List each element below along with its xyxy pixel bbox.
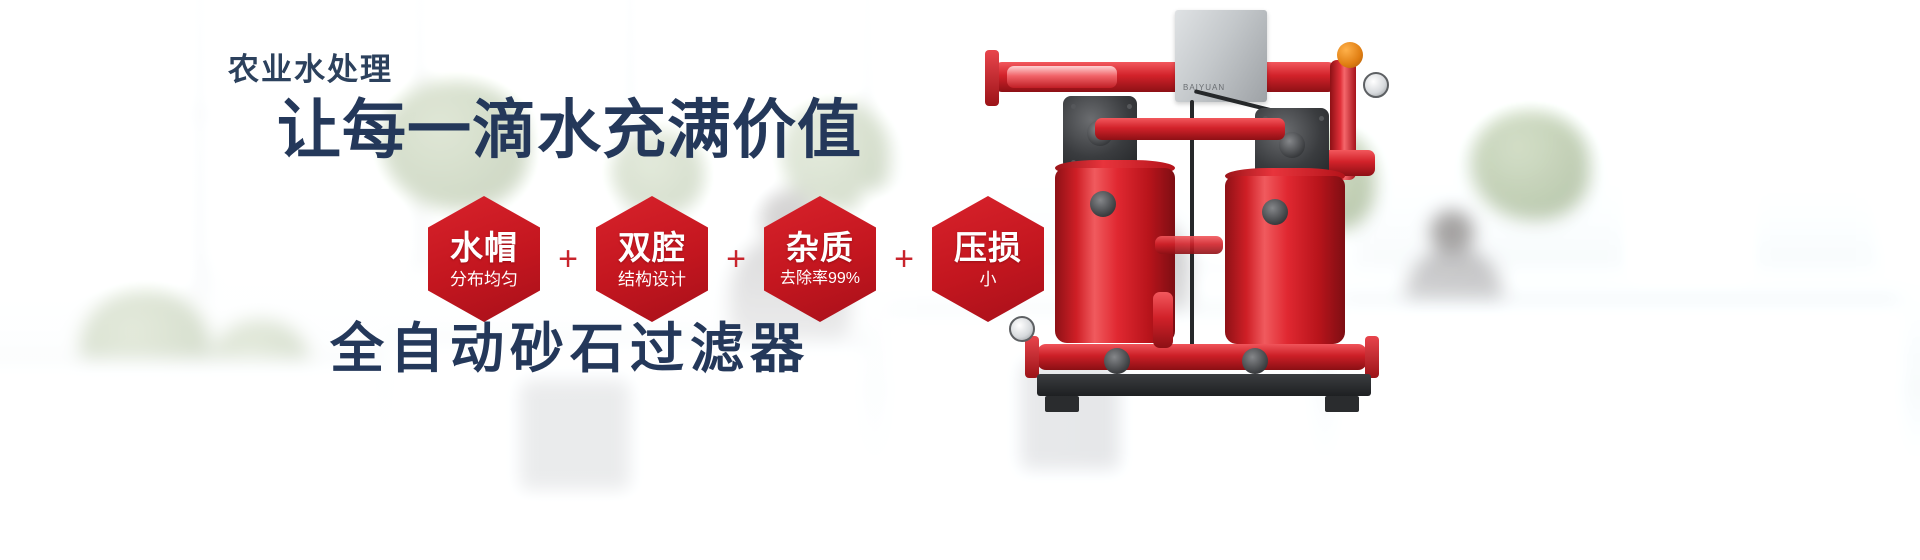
feature-badge-1: 水帽 分布均匀: [428, 196, 540, 322]
promo-banner: BAIYUAN: [0, 0, 1920, 560]
badge-4-subtitle: 小: [980, 271, 997, 288]
product-image-sand-filter: BAIYUAN: [985, 0, 1445, 470]
kicker-text: 农业水处理: [228, 44, 393, 89]
headline-text: 让每一滴水充满价值: [277, 98, 862, 162]
plus-separator-2: +: [708, 242, 764, 276]
orange-knob: [1337, 42, 1363, 68]
product-name-text: 全自动砂石过滤器: [330, 322, 810, 376]
plus-separator-3: +: [876, 242, 932, 276]
badge-1-title: 水帽: [450, 231, 518, 264]
plus-separator-1: +: [540, 242, 596, 276]
badge-3-subtitle: 去除率99%: [780, 271, 860, 287]
feature-badge-3: 杂质 去除率99%: [764, 196, 876, 322]
pressure-gauge-top: [1363, 72, 1389, 98]
badge-3-title: 杂质: [786, 231, 854, 264]
controller-box: BAIYUAN: [1175, 10, 1267, 102]
feature-badge-2: 双腔 结构设计: [596, 196, 708, 322]
feature-badge-4: 压损 小: [932, 196, 1044, 322]
filter-tank-right: [1225, 176, 1345, 344]
badge-2-subtitle: 结构设计: [618, 271, 686, 288]
feature-badge-row: 水帽 分布均匀 + 双腔 结构设计 + 杂质 去除率99% + 压损 小: [428, 196, 1044, 322]
badge-4-title: 压损: [954, 231, 1022, 264]
badge-2-title: 双腔: [618, 231, 686, 264]
badge-1-subtitle: 分布均匀: [450, 271, 518, 288]
copy-block: 农业水处理 让每一滴水充满价值 水帽 分布均匀 + 双腔 结构设计 + 杂质 去…: [0, 0, 1000, 560]
